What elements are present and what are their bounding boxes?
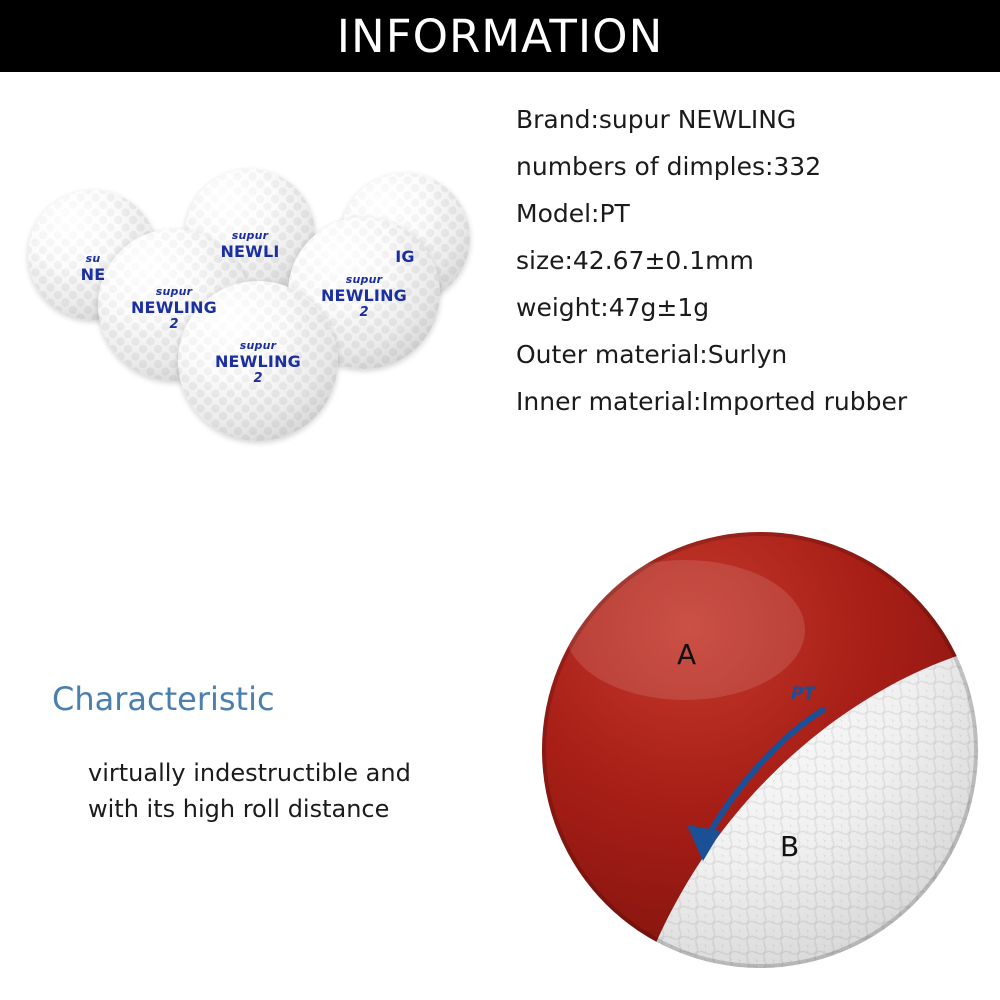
golf-ball-front: supur NEWLING 2 xyxy=(178,281,338,441)
golf-ball-cluster-photo: su NE supur NEWLI IG supur NEWLING 2 xyxy=(10,155,480,445)
cutaway-body xyxy=(535,525,985,975)
page-title: INFORMATION xyxy=(337,14,663,59)
spec-inner-material: Inner material:Imported rubber xyxy=(516,378,996,425)
ball-label-line1: supur xyxy=(288,273,440,286)
ball-label-line1: supur xyxy=(178,339,338,352)
spec-dimples: numbers of dimples:332 xyxy=(516,143,996,190)
layer-b-label: B xyxy=(780,830,799,863)
characteristic-body: virtually indestructible and with its hi… xyxy=(88,755,498,827)
pt-arrow-label: PT xyxy=(791,684,815,704)
ball-label-line3: 2 xyxy=(178,371,338,386)
specification-list: Brand:supur NEWLING numbers of dimples:3… xyxy=(516,96,996,425)
ball-label-front: supur NEWLING 2 xyxy=(178,339,338,386)
characteristic-line-1: virtually indestructible and xyxy=(88,755,498,791)
spec-weight: weight:47g±1g xyxy=(516,284,996,331)
ball-label-line2: NEWLING xyxy=(178,352,338,371)
spec-outer-material: Outer material:Surlyn xyxy=(516,331,996,378)
header-banner: INFORMATION xyxy=(0,0,1000,72)
characteristic-line-2: with its high roll distance xyxy=(88,791,498,827)
characteristic-title: Characteristic xyxy=(52,680,275,718)
spec-brand: Brand:supur NEWLING xyxy=(516,96,996,143)
layer-a-label: A xyxy=(677,638,696,671)
core-highlight xyxy=(565,560,805,700)
spec-size: size:42.67±0.1mm xyxy=(516,237,996,284)
ball-cutaway-diagram: A B PT xyxy=(535,525,985,975)
cutaway-svg xyxy=(535,525,985,975)
spec-model: Model:PT xyxy=(516,190,996,237)
product-info-page: INFORMATION Brand:supur NEWLING numbers … xyxy=(0,0,1000,1000)
